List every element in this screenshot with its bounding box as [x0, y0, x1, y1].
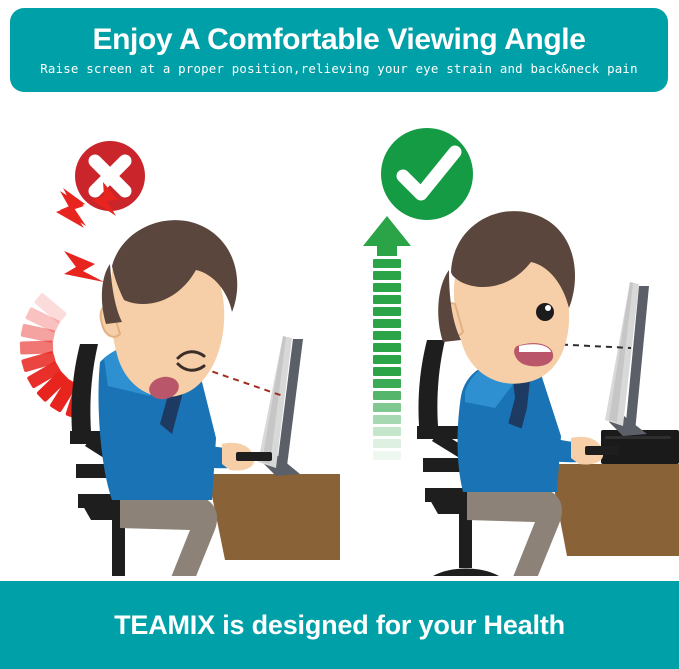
correct-posture-scene — [339, 96, 679, 576]
upright-man-legs — [467, 488, 562, 576]
check-mark-badge — [381, 128, 473, 220]
eye-line-downward — [202, 368, 283, 396]
keyboard — [585, 446, 619, 455]
illustration-area — [0, 96, 679, 576]
product-infographic: Enjoy A Comfortable Viewing Angle Raise … — [0, 0, 679, 669]
footer-tagline: TEAMIX is designed for your Health — [114, 610, 565, 641]
header-title: Enjoy A Comfortable Viewing Angle — [93, 24, 586, 56]
header-banner: Enjoy A Comfortable Viewing Angle Raise … — [10, 8, 668, 92]
upright-man-head — [438, 211, 575, 384]
keyboard — [236, 452, 272, 461]
incorrect-posture-scene — [0, 96, 340, 576]
hunched-man-legs — [120, 496, 217, 576]
green-up-arrow — [363, 216, 411, 460]
footer-banner: TEAMIX is designed for your Health — [0, 581, 679, 669]
monitor-raised — [605, 282, 649, 436]
header-subtitle: Raise screen at a proper position,reliev… — [40, 61, 637, 76]
